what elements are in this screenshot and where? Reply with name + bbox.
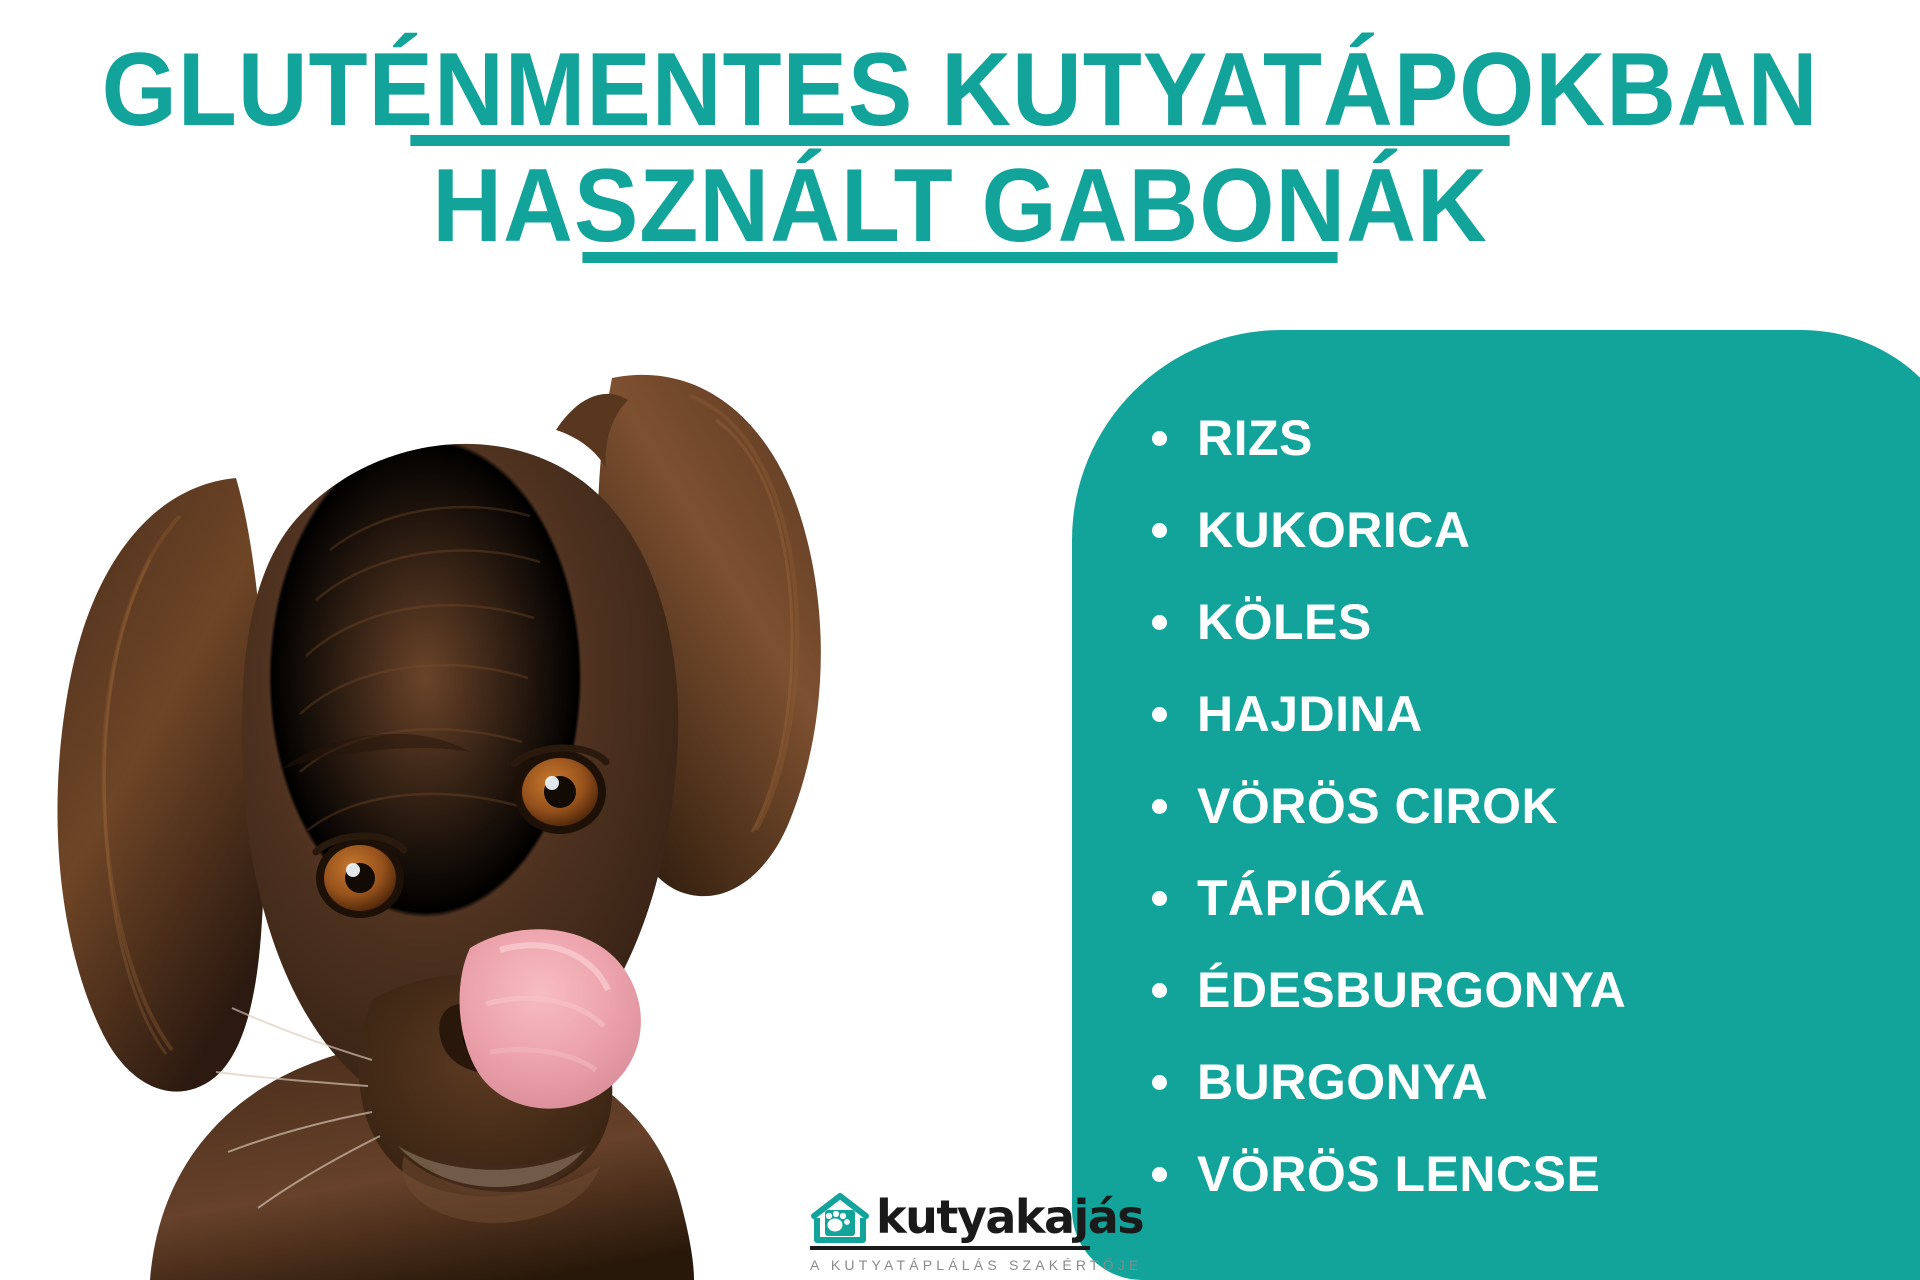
bullet-dot-icon	[1152, 799, 1167, 814]
brand-logo[interactable]: kutyakajás .hu A KUTYATÁPLÁLÁS SZAKÉRTŐJ…	[810, 1192, 1193, 1273]
list-item: VÖRÖS CIROK	[1152, 760, 1626, 852]
grain-list-panel: RIZS KUKORICA KÖLES HAJDINA VÖRÖS CIROK …	[1072, 330, 1920, 1280]
bullet-dot-icon	[1152, 891, 1167, 906]
page-title: GLUTÉNMENTES KUTYATÁPOKBAN HASZNÁLT GABO…	[0, 32, 1920, 265]
list-item: KUKORICA	[1152, 484, 1626, 576]
list-item-label: TÁPIÓKA	[1197, 869, 1426, 927]
logo-divider	[810, 1246, 1090, 1250]
bullet-dot-icon	[1152, 431, 1167, 446]
logo-row: kutyakajás .hu	[810, 1192, 1193, 1244]
list-item-label: VÖRÖS CIROK	[1197, 777, 1558, 835]
dog-photo	[0, 300, 960, 1280]
list-item: BURGONYA	[1152, 1036, 1626, 1128]
bullet-dot-icon	[1152, 707, 1167, 722]
bullet-dot-icon	[1152, 1167, 1167, 1182]
house-paw-icon	[810, 1192, 870, 1244]
logo-wordmark: kutyakajás	[876, 1196, 1143, 1240]
grain-list: RIZS KUKORICA KÖLES HAJDINA VÖRÖS CIROK …	[1152, 392, 1626, 1220]
list-item-label: ÉDESBURGONYA	[1197, 961, 1626, 1019]
list-item-label: KUKORICA	[1197, 501, 1470, 559]
logo-tld: .hu	[1144, 1202, 1193, 1235]
list-item: TÁPIÓKA	[1152, 852, 1626, 944]
bullet-dot-icon	[1152, 983, 1167, 998]
title-line-1: GLUTÉNMENTES KUTYATÁPOKBAN	[67, 32, 1853, 148]
bullet-dot-icon	[1152, 615, 1167, 630]
list-item-label: RIZS	[1197, 409, 1313, 467]
list-item-label: HAJDINA	[1197, 685, 1423, 743]
list-item: ÉDESBURGONYA	[1152, 944, 1626, 1036]
list-item-label: VÖRÖS LENCSE	[1197, 1145, 1600, 1203]
infographic-poster: GLUTÉNMENTES KUTYATÁPOKBAN HASZNÁLT GABO…	[0, 0, 1920, 1280]
list-item-label: KÖLES	[1197, 593, 1372, 651]
list-item: KÖLES	[1152, 576, 1626, 668]
title-underline-1	[410, 135, 1509, 146]
list-item: VÖRÖS LENCSE	[1152, 1128, 1626, 1220]
title-line-2-text: HASZNÁLT GABONÁK	[432, 148, 1487, 264]
list-item: RIZS	[1152, 392, 1626, 484]
title-line-1-text: GLUTÉNMENTES KUTYATÁPOKBAN	[102, 32, 1819, 148]
list-item-label: BURGONYA	[1197, 1053, 1488, 1111]
logo-tagline: A KUTYATÁPLÁLÁS SZAKÉRTŐJE	[810, 1257, 1143, 1273]
title-line-2: HASZNÁLT GABONÁK	[67, 148, 1853, 264]
list-item: HAJDINA	[1152, 668, 1626, 760]
bullet-dot-icon	[1152, 1075, 1167, 1090]
bullet-dot-icon	[1152, 523, 1167, 538]
title-underline-2	[582, 252, 1337, 263]
